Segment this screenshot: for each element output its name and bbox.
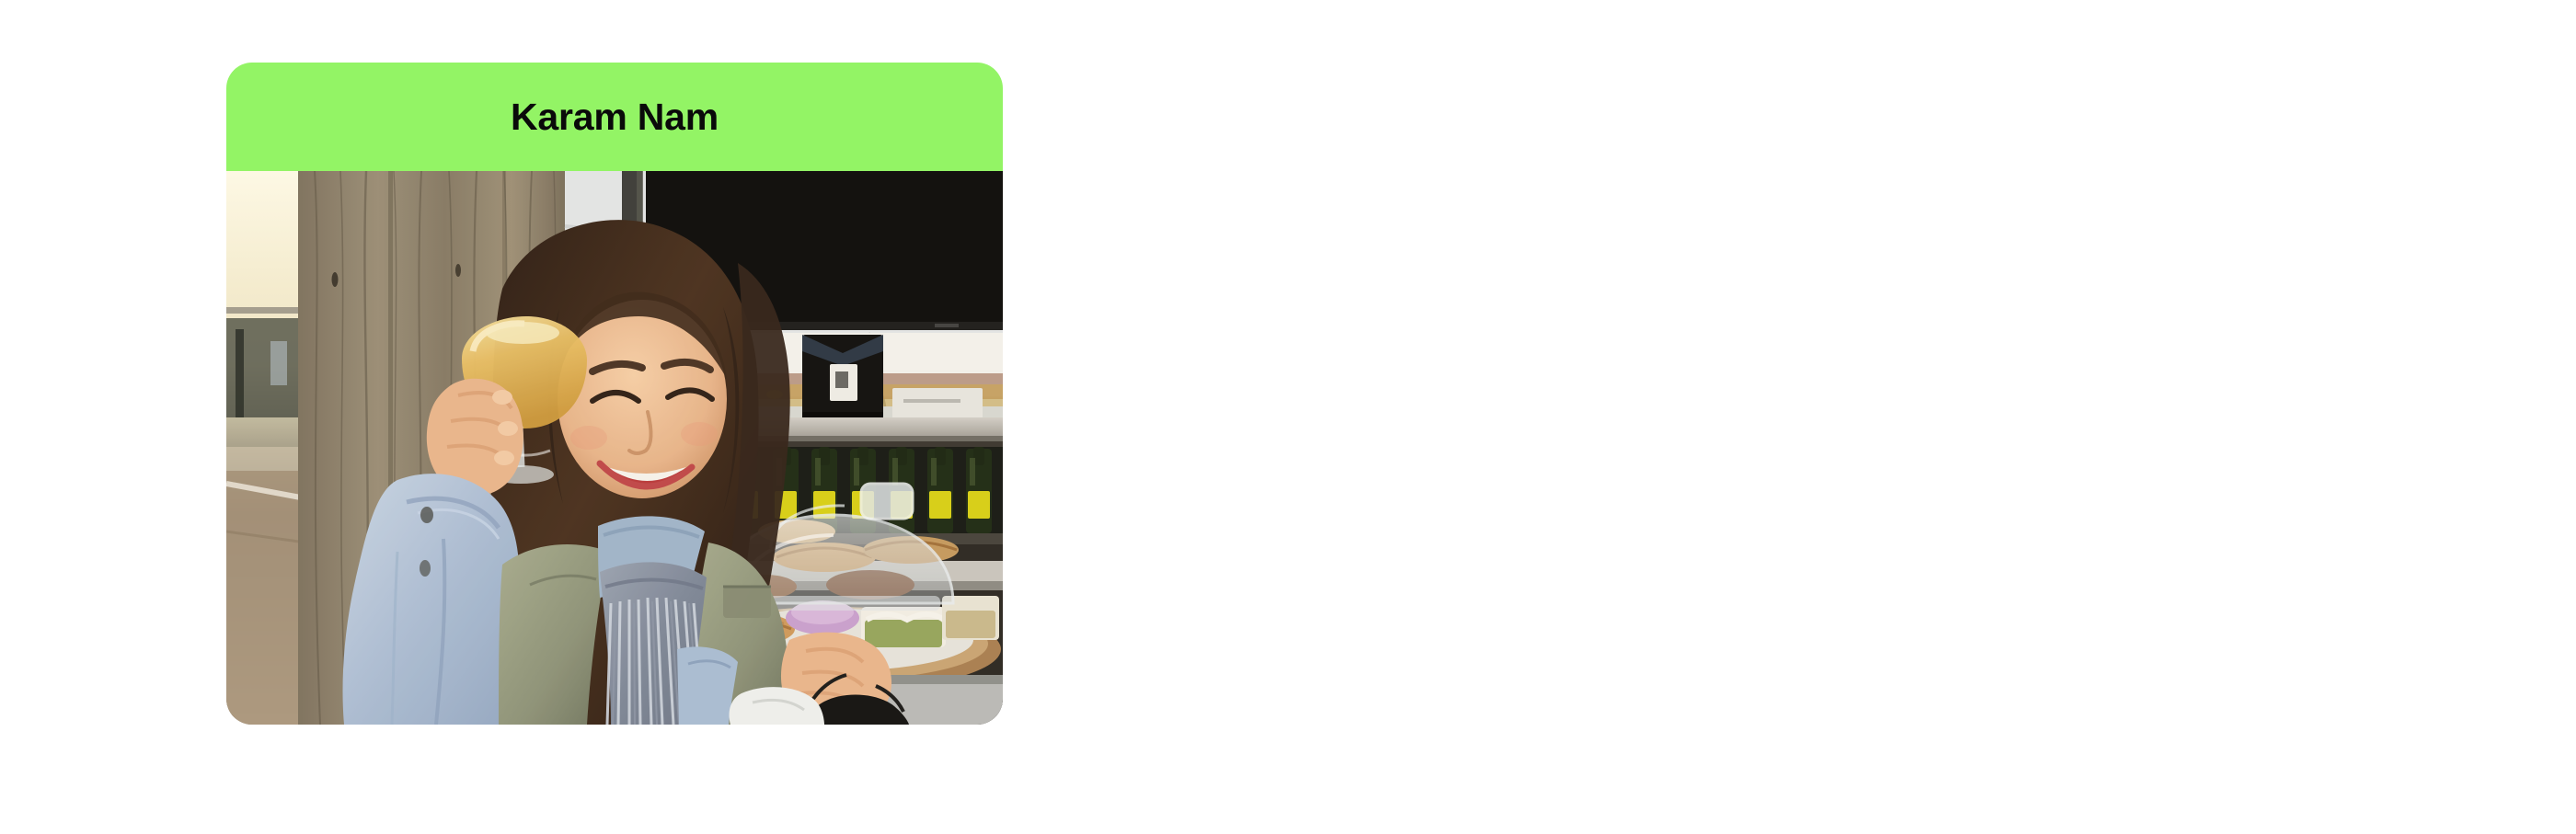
profile-card[interactable]: Karam Nam: [226, 63, 1003, 725]
card-header-banner: Karam Nam: [226, 63, 1003, 171]
profile-photo: [226, 171, 1003, 725]
page-title: Karam Nam: [511, 98, 719, 136]
profile-photo-illustration: [226, 171, 1003, 725]
